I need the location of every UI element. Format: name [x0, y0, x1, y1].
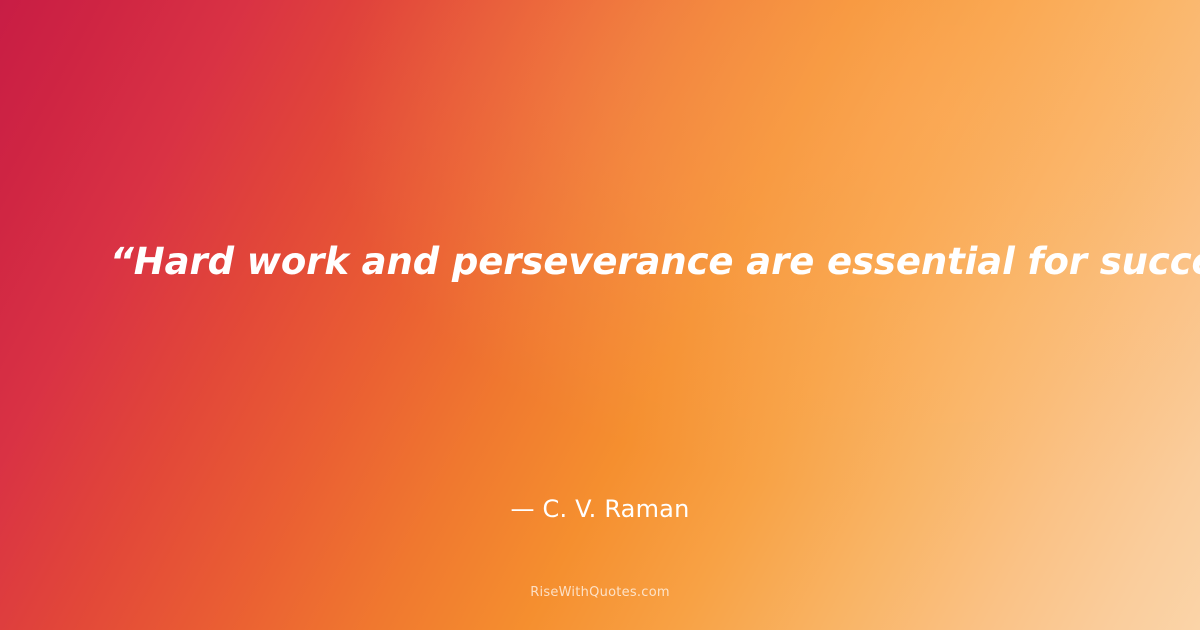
brand-watermark: RiseWithQuotes.com: [0, 584, 1200, 602]
card-content: “Hard work and perseverance are essentia…: [0, 0, 1200, 630]
quote-text: “Hard work and perseverance are essentia…: [0, 236, 1200, 288]
quote-attribution: — C. V. Raman: [0, 494, 1200, 524]
quote-card: “Hard work and perseverance are essentia…: [0, 0, 1200, 630]
